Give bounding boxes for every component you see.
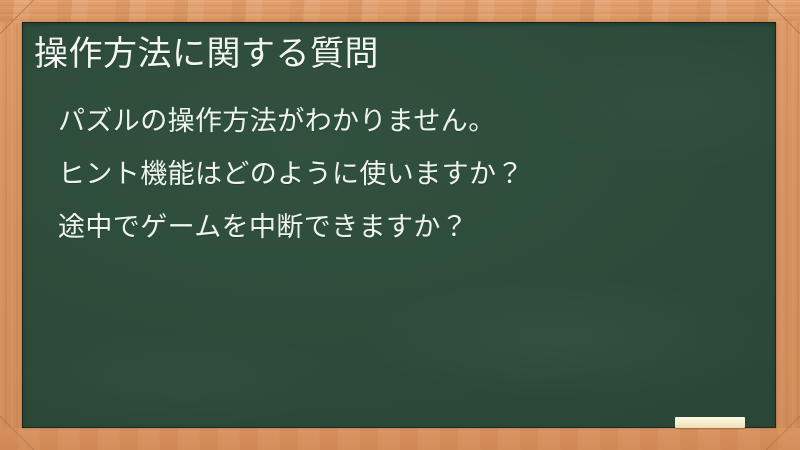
list-item: パズルの操作方法がわかりません。 [58, 95, 760, 148]
frame-rail-top [0, 0, 800, 23]
chalkboard-surface: 操作方法に関する質問 パズルの操作方法がわかりません。 ヒント機能はどのように使… [22, 22, 776, 428]
list-item: ヒント機能はどのように使いますか？ [58, 148, 760, 201]
question-list: パズルの操作方法がわかりません。 ヒント機能はどのように使いますか？ 途中でゲー… [58, 95, 760, 254]
list-item: 途中でゲームを中断できますか？ [58, 201, 760, 254]
chalk-stick [675, 417, 745, 428]
chalkboard-slide: 操作方法に関する質問 パズルの操作方法がわかりません。 ヒント機能はどのように使… [0, 0, 800, 450]
frame-rail-bottom [0, 428, 800, 450]
slide-title: 操作方法に関する質問 [34, 32, 379, 76]
